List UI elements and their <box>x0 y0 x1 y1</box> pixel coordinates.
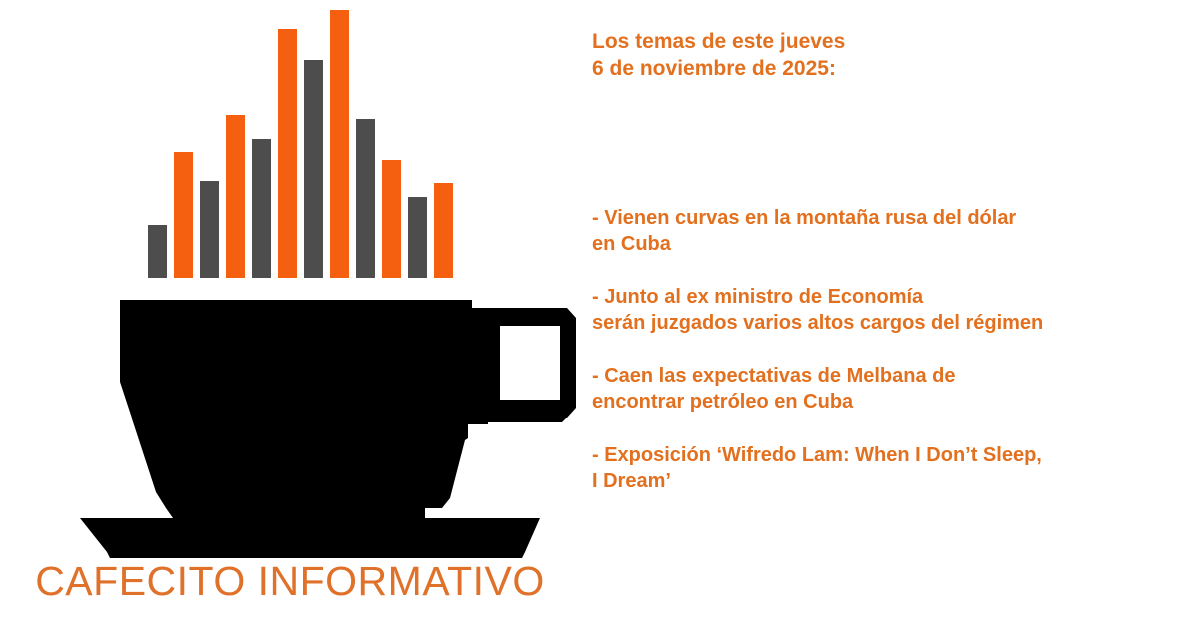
list-item: - Exposición ‘Wifredo Lam: When I Don’t … <box>592 442 1192 494</box>
bar-3 <box>200 181 219 278</box>
bar-4 <box>226 115 245 278</box>
topic-line: encontrar petróleo en Cuba <box>592 389 1192 415</box>
list-item: - Caen las expectativas de Melbana de en… <box>592 363 1192 415</box>
topic-list: - Vienen curvas en la montaña rusa del d… <box>592 205 1192 494</box>
topic-line: - Exposición ‘Wifredo Lam: When I Don’t … <box>592 442 1192 468</box>
headline: Los temas de este jueves 6 de noviembre … <box>592 28 845 82</box>
bar-11 <box>408 197 427 278</box>
content-column: Los temas de este jueves 6 de noviembre … <box>590 0 1200 628</box>
cafecito-informativo-card: CAFECITO INFORMATIVO Los temas de este j… <box>0 0 1200 628</box>
bar-9 <box>356 119 375 278</box>
topic-line: serán juzgados varios altos cargos del r… <box>592 310 1192 336</box>
bar-5 <box>252 139 271 278</box>
topic-line: - Vienen curvas en la montaña rusa del d… <box>592 205 1192 231</box>
headline-line-1: Los temas de este jueves <box>592 28 845 55</box>
bar-7 <box>304 60 323 278</box>
bar-12 <box>434 183 453 278</box>
bar-2 <box>174 152 193 278</box>
headline-line-2: 6 de noviembre de 2025: <box>592 55 845 82</box>
list-item: - Junto al ex ministro de Economía serán… <box>592 284 1192 336</box>
list-item: - Vienen curvas en la montaña rusa del d… <box>592 205 1192 257</box>
topic-line: - Caen las expectativas de Melbana de <box>592 363 1192 389</box>
brand-block: CAFECITO INFORMATIVO <box>0 0 580 628</box>
topic-line: I Dream’ <box>592 468 1192 494</box>
topic-line: - Junto al ex ministro de Economía <box>592 284 1192 310</box>
bar-chart-steam <box>148 0 468 278</box>
bar-1 <box>148 225 167 278</box>
coffee-cup-icon <box>70 290 580 560</box>
bar-10 <box>382 160 401 278</box>
brand-wordmark: CAFECITO INFORMATIVO <box>0 558 580 605</box>
bar-6 <box>278 29 297 278</box>
bar-8 <box>330 10 349 278</box>
topic-line: en Cuba <box>592 231 1192 257</box>
